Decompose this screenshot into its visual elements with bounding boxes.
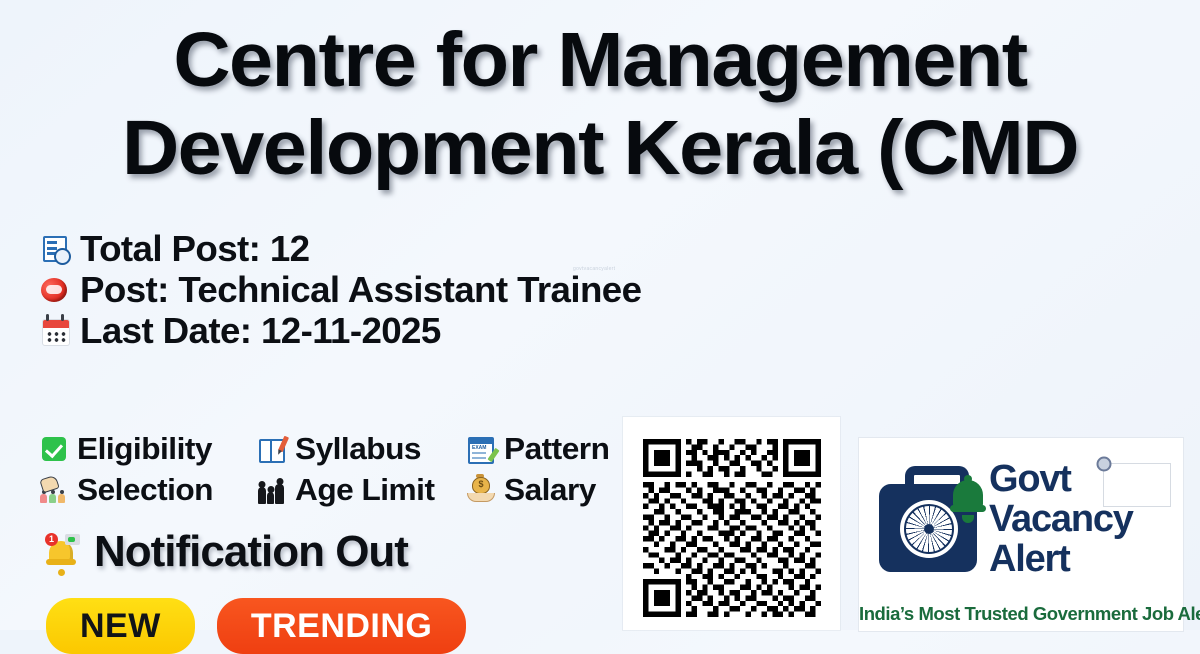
vacancy-summary: Total Post: 12 Post: Technical Assistant… (40, 228, 630, 351)
feature-pattern[interactable]: EXAM Pattern (467, 432, 607, 466)
feature-eligibility[interactable]: Eligibility (40, 432, 258, 466)
notification-badge: 1 (45, 533, 58, 546)
logo-wordmark: Govt Vacancy Alert (989, 459, 1173, 579)
info-row-last-date: Last Date: 12-11-2025 (40, 310, 630, 351)
feature-label: Salary (504, 473, 596, 507)
notification-bell-icon: 1 (44, 533, 80, 571)
feature-row-1: Eligibility Syllabus EXAM Pattern (40, 428, 607, 469)
feature-label: Selection (77, 473, 213, 507)
feature-label: Age Limit (295, 473, 434, 507)
notification-banner: 1 Notification Out (44, 528, 408, 576)
info-row-total-post: Total Post: 12 (40, 228, 630, 269)
hand-selecting-person-icon (40, 476, 68, 504)
megaphone-icon (40, 275, 70, 305)
feature-list: Eligibility Syllabus EXAM Pattern Select… (40, 428, 607, 510)
brand-logo-card[interactable]: Govt Vacancy Alert India’s Most Trusted … (858, 437, 1184, 632)
info-row-post-name: Post: Technical Assistant Trainee (40, 269, 630, 310)
feature-label: Syllabus (295, 432, 421, 466)
feature-age-limit[interactable]: Age Limit (258, 473, 467, 507)
logo-lockup: Govt Vacancy Alert (873, 454, 1173, 584)
check-mark-icon (40, 435, 68, 463)
post-name-text: Post: Technical Assistant Trainee (80, 270, 641, 310)
qr-code-card[interactable] (623, 417, 840, 630)
exam-paper-icon: EXAM (467, 435, 495, 463)
total-post-text: Total Post: 12 (80, 229, 309, 269)
calendar-icon (40, 316, 70, 346)
green-bell-icon (951, 476, 985, 520)
money-bag-in-hand-icon (467, 476, 495, 504)
qr-code[interactable] (643, 439, 821, 617)
feature-syllabus[interactable]: Syllabus (258, 432, 467, 466)
logo-word-line: Govt (989, 458, 1071, 500)
new-badge[interactable]: NEW (46, 598, 195, 654)
logo-tagline: India’s Most Trusted Government Job Aler… (859, 603, 1183, 625)
notification-text: Notification Out (94, 528, 408, 576)
status-pills: NEW TRENDING (46, 598, 466, 654)
logo-word-line: Alert (989, 538, 1070, 580)
feature-row-2: Selection Age Limit Salary (40, 469, 607, 510)
book-pen-icon (258, 435, 286, 463)
title-line-1: Centre for Management (0, 14, 1200, 106)
feature-salary[interactable]: Salary (467, 473, 594, 507)
briefcase-chakra-icon (873, 460, 983, 578)
feature-label: Pattern (504, 432, 609, 466)
title-line-2: Development Kerala (CMD (0, 102, 1200, 194)
job-document-icon (40, 234, 70, 264)
trending-badge[interactable]: TRENDING (217, 598, 467, 654)
last-date-text: Last Date: 12-11-2025 (80, 311, 441, 351)
india-flag-icon (1103, 463, 1171, 507)
feature-label: Eligibility (77, 432, 212, 466)
feature-selection[interactable]: Selection (40, 473, 258, 507)
poster-canvas: Centre for Management Development Kerala… (0, 0, 1200, 630)
watermark: govtvacancyalert (573, 266, 615, 272)
family-people-icon (258, 476, 286, 504)
page-title: Centre for Management Development Kerala… (0, 14, 1200, 194)
